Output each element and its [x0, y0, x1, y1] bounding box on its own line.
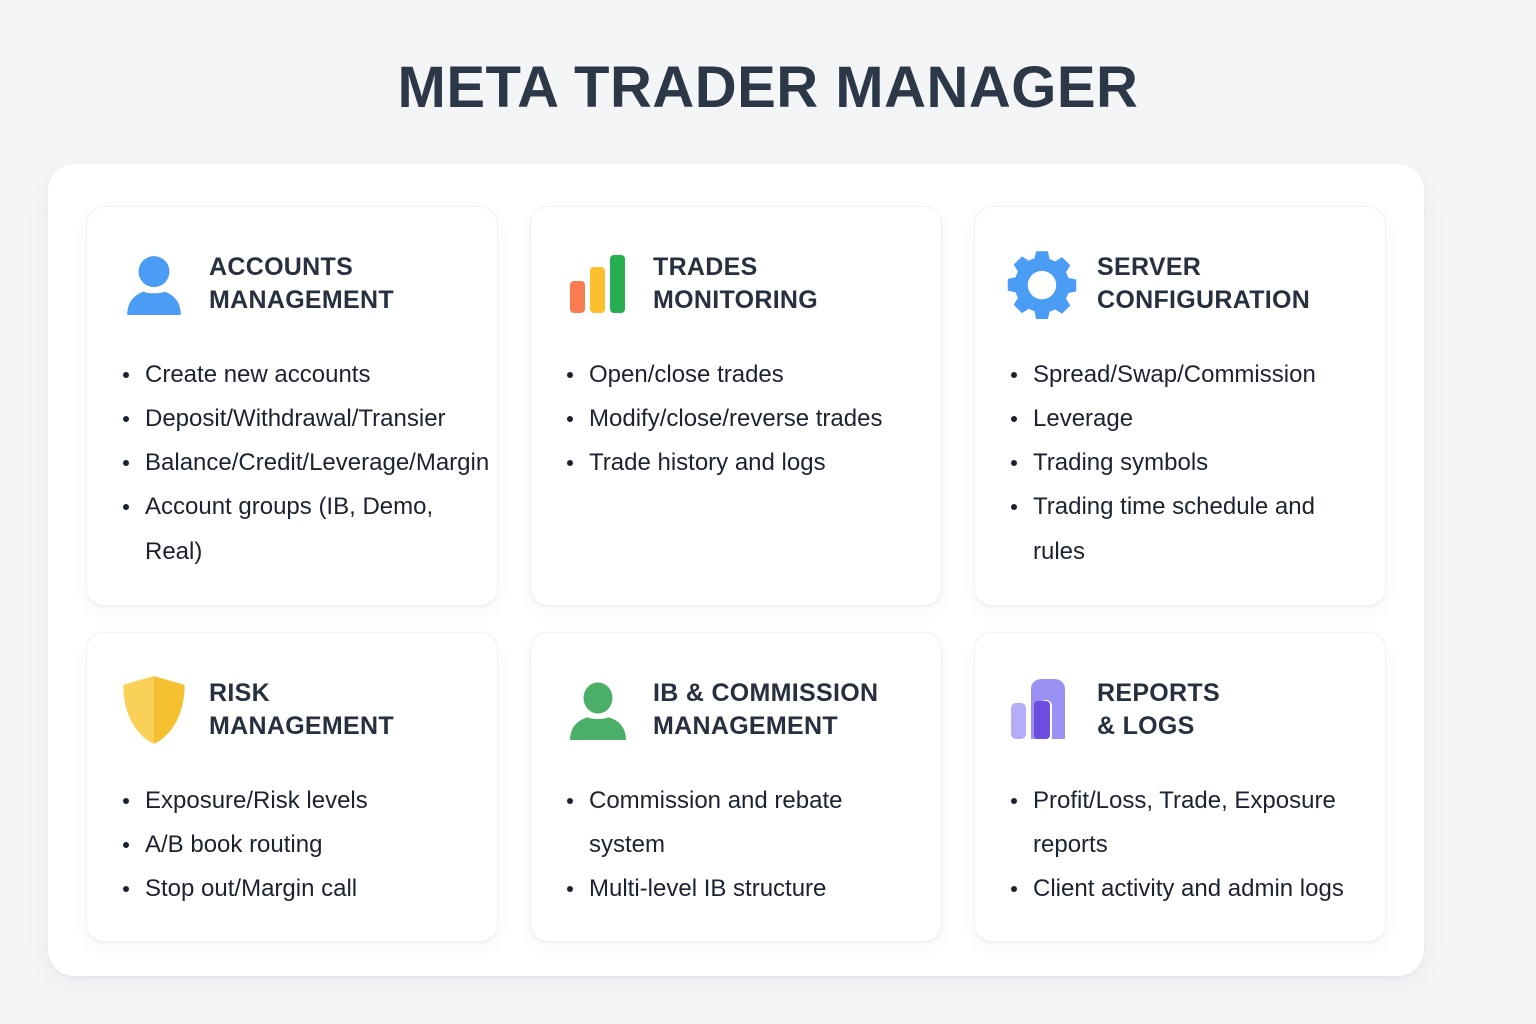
feature-card-server-configuration[interactable]: SERVER CONFIGURATION Spread/Swap/Commiss… — [974, 206, 1386, 606]
card-title-line-2: MANAGEMENT — [653, 710, 878, 743]
list-item: Trade history and logs — [561, 441, 911, 485]
feature-card-accounts-management[interactable]: ACCOUNTS MANAGEMENT Create new accounts … — [86, 206, 498, 606]
card-title: ACCOUNTS MANAGEMENT — [209, 251, 394, 317]
features-grid: ACCOUNTS MANAGEMENT Create new accounts … — [86, 206, 1386, 934]
card-title-line-1: RISK — [209, 677, 394, 710]
feature-list: Profit/Loss, Trade, Exposure reports Cli… — [1005, 779, 1355, 911]
card-title-line-1: REPORTS — [1097, 677, 1220, 710]
page-title: META TRADER MANAGER — [0, 56, 1536, 120]
card-title: SERVER CONFIGURATION — [1097, 251, 1310, 317]
card-title-line-2: CONFIGURATION — [1097, 284, 1310, 317]
card-title: TRADES MONITORING — [653, 251, 818, 317]
list-item: Multi-level IB structure — [561, 867, 911, 911]
card-title-line-2: MONITORING — [653, 284, 818, 317]
feature-card-reports-logs[interactable]: REPORTS & LOGS Profit/Loss, Trade, Expos… — [974, 632, 1386, 942]
card-header: REPORTS & LOGS — [1005, 667, 1355, 753]
list-item: Create new accounts — [117, 353, 467, 397]
list-item: Trading symbols — [1005, 441, 1355, 485]
card-title-line-2: & LOGS — [1097, 710, 1220, 743]
list-item: Spread/Swap/Commission — [1005, 353, 1355, 397]
shield-icon — [117, 673, 191, 747]
list-item: Open/close trades — [561, 353, 911, 397]
list-item: Modify/close/reverse trades — [561, 397, 911, 441]
card-title-line-2: MANAGEMENT — [209, 710, 394, 743]
list-item: Balance/Credit/Leverage/Margin — [117, 441, 467, 485]
features-panel: ACCOUNTS MANAGEMENT Create new accounts … — [48, 164, 1424, 976]
user-blue-icon — [117, 247, 191, 321]
list-item: Profit/Loss, Trade, Exposure reports — [1005, 779, 1355, 867]
card-title-line-1: ACCOUNTS — [209, 251, 394, 284]
gear-icon — [1005, 247, 1079, 321]
card-title-line-2: MANAGEMENT — [209, 284, 394, 317]
list-item: Deposit/Withdrawal/Transier — [117, 397, 467, 441]
card-header: TRADES MONITORING — [561, 241, 911, 327]
feature-list: Commission and rebate system Multi-level… — [561, 779, 911, 911]
user-green-icon — [561, 673, 635, 747]
feature-card-trades-monitoring[interactable]: TRADES MONITORING Open/close trades Modi… — [530, 206, 942, 606]
list-item: Trading time schedule and rules — [1005, 485, 1355, 573]
card-title-line-1: SERVER — [1097, 251, 1310, 284]
list-item: Exposure/Risk levels — [117, 779, 467, 823]
list-item: Account groups (IB, Demo, Real) — [117, 485, 467, 573]
feature-list: Open/close trades Modify/close/reverse t… — [561, 353, 911, 485]
feature-list: Spread/Swap/Commission Leverage Trading … — [1005, 353, 1355, 574]
list-item: Client activity and admin logs — [1005, 867, 1355, 911]
feature-list: Exposure/Risk levels A/B book routing St… — [117, 779, 467, 911]
list-item: Stop out/Margin call — [117, 867, 467, 911]
list-item: A/B book routing — [117, 823, 467, 867]
card-header: ACCOUNTS MANAGEMENT — [117, 241, 467, 327]
card-title: RISK MANAGEMENT — [209, 677, 394, 743]
page-root: META TRADER MANAGER ACCOUNTS MANAGEMENT — [0, 0, 1536, 1024]
card-header: RISK MANAGEMENT — [117, 667, 467, 753]
feature-list: Create new accounts Deposit/Withdrawal/T… — [117, 353, 467, 574]
card-header: IB & COMMISSION MANAGEMENT — [561, 667, 911, 753]
card-title-line-1: TRADES — [653, 251, 818, 284]
bar-chart-colored-icon — [561, 247, 635, 321]
card-title-line-1: IB & COMMISSION — [653, 677, 878, 710]
card-title: IB & COMMISSION MANAGEMENT — [653, 677, 878, 743]
feature-card-risk-management[interactable]: RISK MANAGEMENT Exposure/Risk levels A/B… — [86, 632, 498, 942]
list-item: Leverage — [1005, 397, 1355, 441]
card-header: SERVER CONFIGURATION — [1005, 241, 1355, 327]
bar-chart-purple-icon — [1005, 673, 1079, 747]
feature-card-ib-commission-management[interactable]: IB & COMMISSION MANAGEMENT Commission an… — [530, 632, 942, 942]
card-title: REPORTS & LOGS — [1097, 677, 1220, 743]
list-item: Commission and rebate system — [561, 779, 911, 867]
